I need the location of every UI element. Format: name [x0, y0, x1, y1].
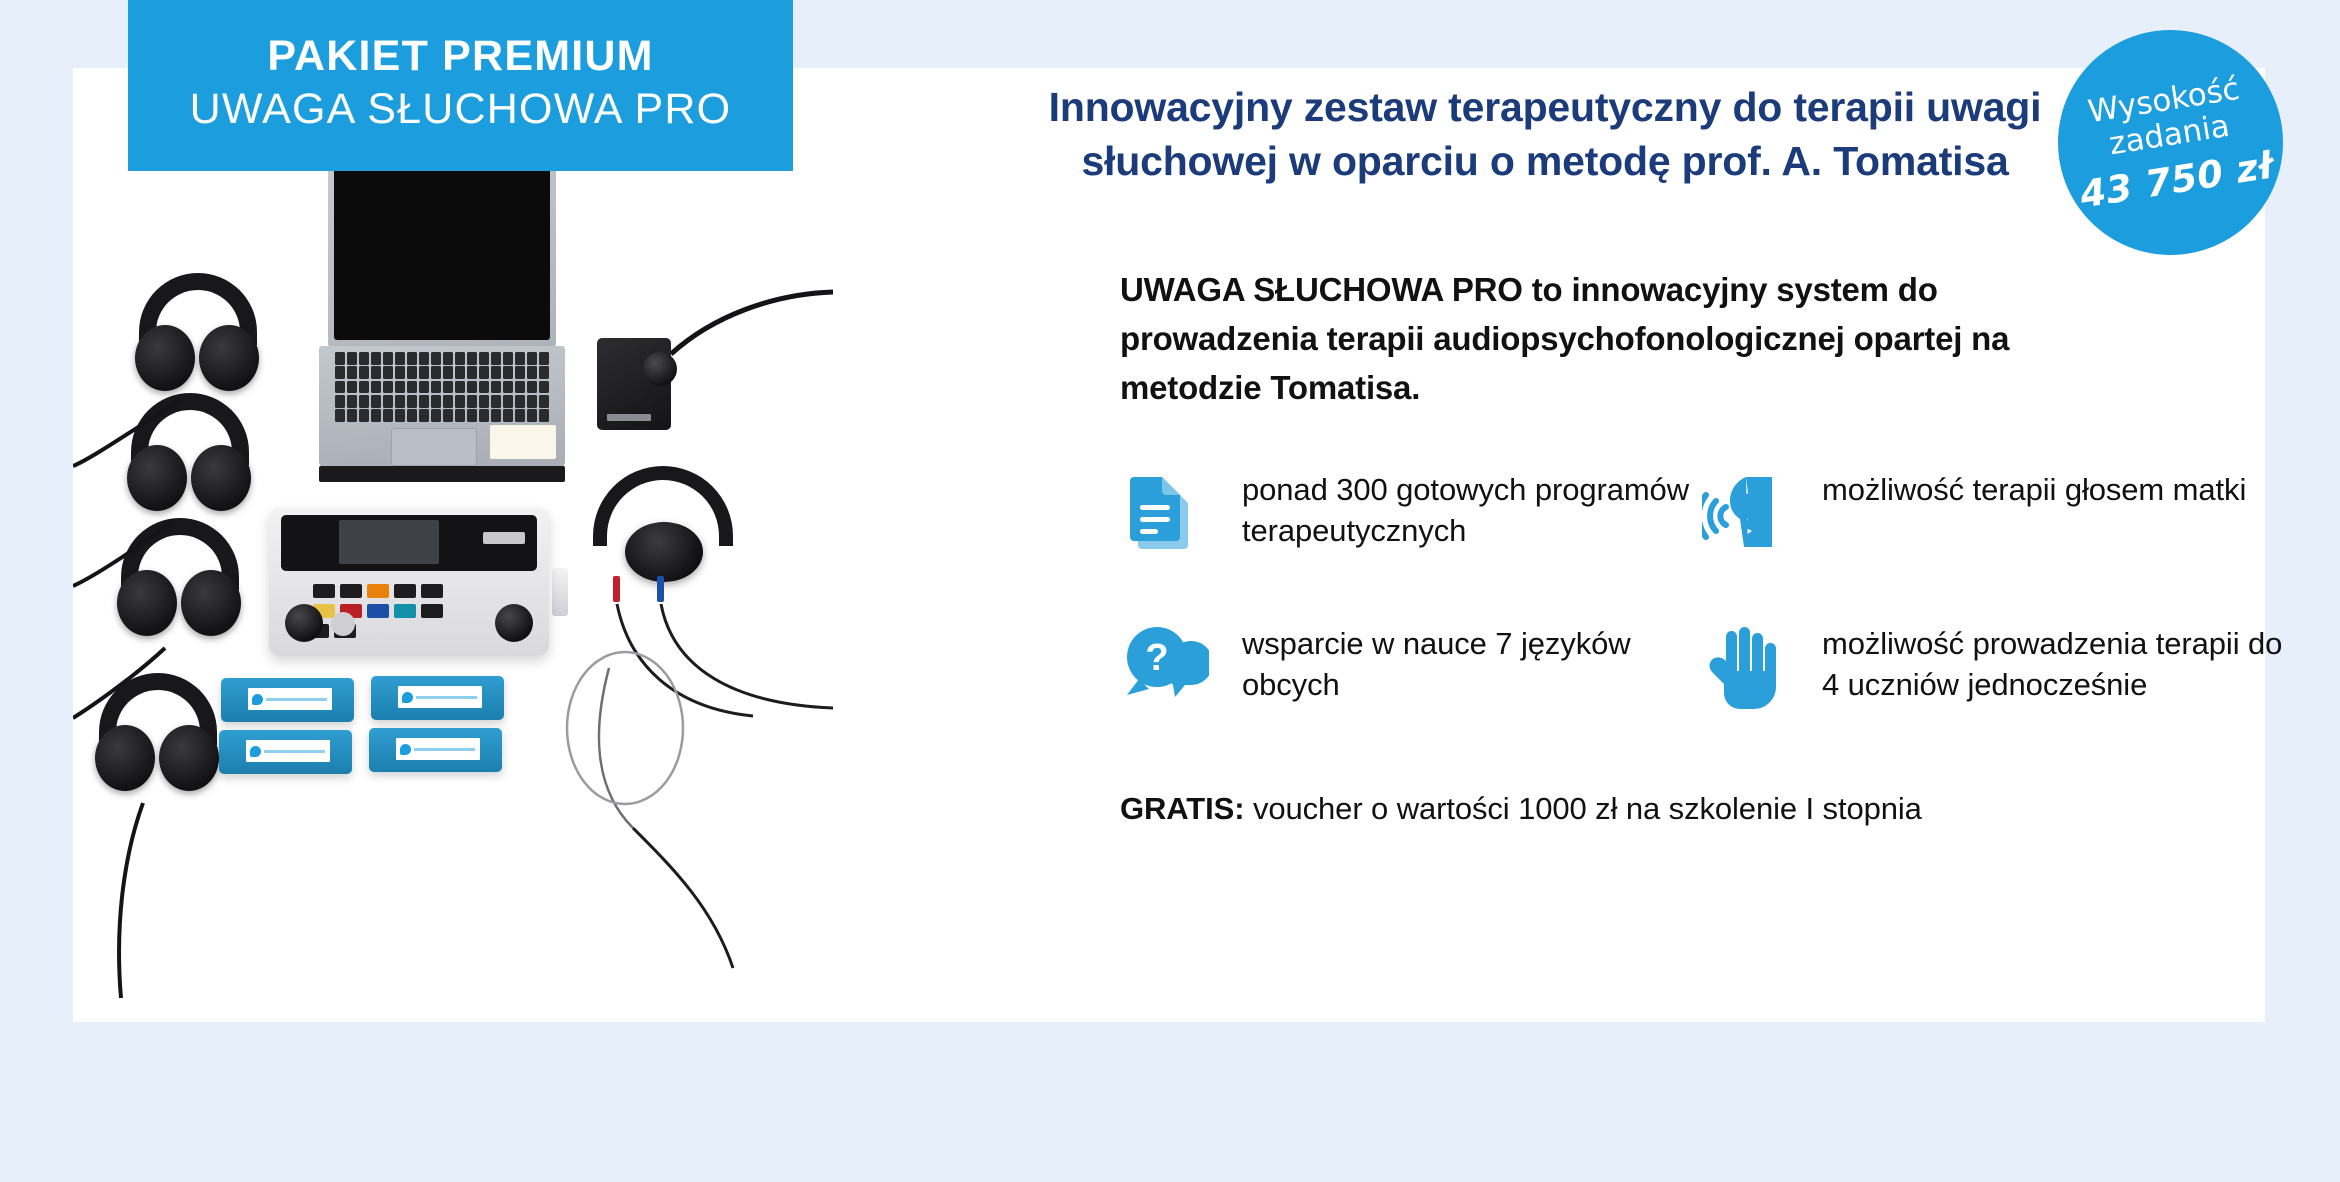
feature-item: ? wsparcie w nauce 7 języków obcych — [1120, 621, 1700, 725]
audiometer-button-grey — [331, 612, 355, 636]
info-column: Innowacyjny zestaw terapeutyczny do tera… — [880, 80, 2210, 1010]
bonus-line: GRATIS: voucher o wartości 1000 zł na sz… — [1120, 791, 2210, 827]
binder — [371, 676, 504, 720]
binder — [219, 730, 352, 774]
speech-bubbles-question-icon: ? — [1120, 621, 1212, 725]
binder — [369, 728, 502, 772]
audiometer-button-row — [313, 584, 443, 598]
badge-price-value: 43 750 zł — [2077, 143, 2276, 216]
feature-label: możliwość terapii głosem matki — [1822, 467, 2246, 511]
audiometer-display — [339, 520, 439, 564]
audiometer — [269, 508, 549, 656]
banner-subtitle: UWAGA SŁUCHOWA PRO — [190, 83, 732, 137]
cable-marker-left — [657, 576, 664, 602]
bonus-text: voucher o wartości 1000 zł na szkolenie … — [1244, 791, 1921, 826]
audiometer-knob-left — [285, 604, 323, 642]
speaking-head-icon — [1700, 467, 1792, 571]
feature-label: ponad 300 gotowych programów terapeutycz… — [1242, 467, 1700, 552]
feature-label: możliwość prowadzenia terapii do 4 uczni… — [1822, 621, 2300, 706]
package-banner: PAKIET PREMIUM UWAGA SŁUCHOWA PRO — [128, 0, 793, 171]
feature-item: możliwość terapii głosem matki — [1700, 467, 2300, 571]
page-title: Innowacyjny zestaw terapeutyczny do tera… — [1000, 80, 2090, 188]
bonus-label: GRATIS: — [1120, 791, 1244, 826]
preamp-unit — [597, 338, 671, 430]
open-hand-icon — [1700, 621, 1792, 725]
product-photo — [73, 68, 883, 1022]
lead-paragraph: UWAGA SŁUCHOWA PRO to innowacyjny system… — [1120, 266, 2100, 412]
feature-label: wsparcie w nauce 7 języków obcych — [1242, 621, 1700, 706]
binder — [221, 678, 354, 722]
audiometer-knob-right — [495, 604, 533, 642]
document-icon — [1120, 467, 1212, 571]
feature-item: ponad 300 gotowych programów terapeutycz… — [1120, 467, 1700, 571]
usb-stick — [552, 568, 568, 616]
feature-item: możliwość prowadzenia terapii do 4 uczni… — [1700, 621, 2300, 725]
svg-text:?: ? — [1145, 637, 1168, 679]
feature-list: ponad 300 gotowych programów terapeutycz… — [1120, 467, 2210, 725]
cable-marker-right — [613, 576, 620, 602]
banner-title: PAKIET PREMIUM — [267, 34, 653, 79]
microphone-icon — [643, 352, 677, 386]
